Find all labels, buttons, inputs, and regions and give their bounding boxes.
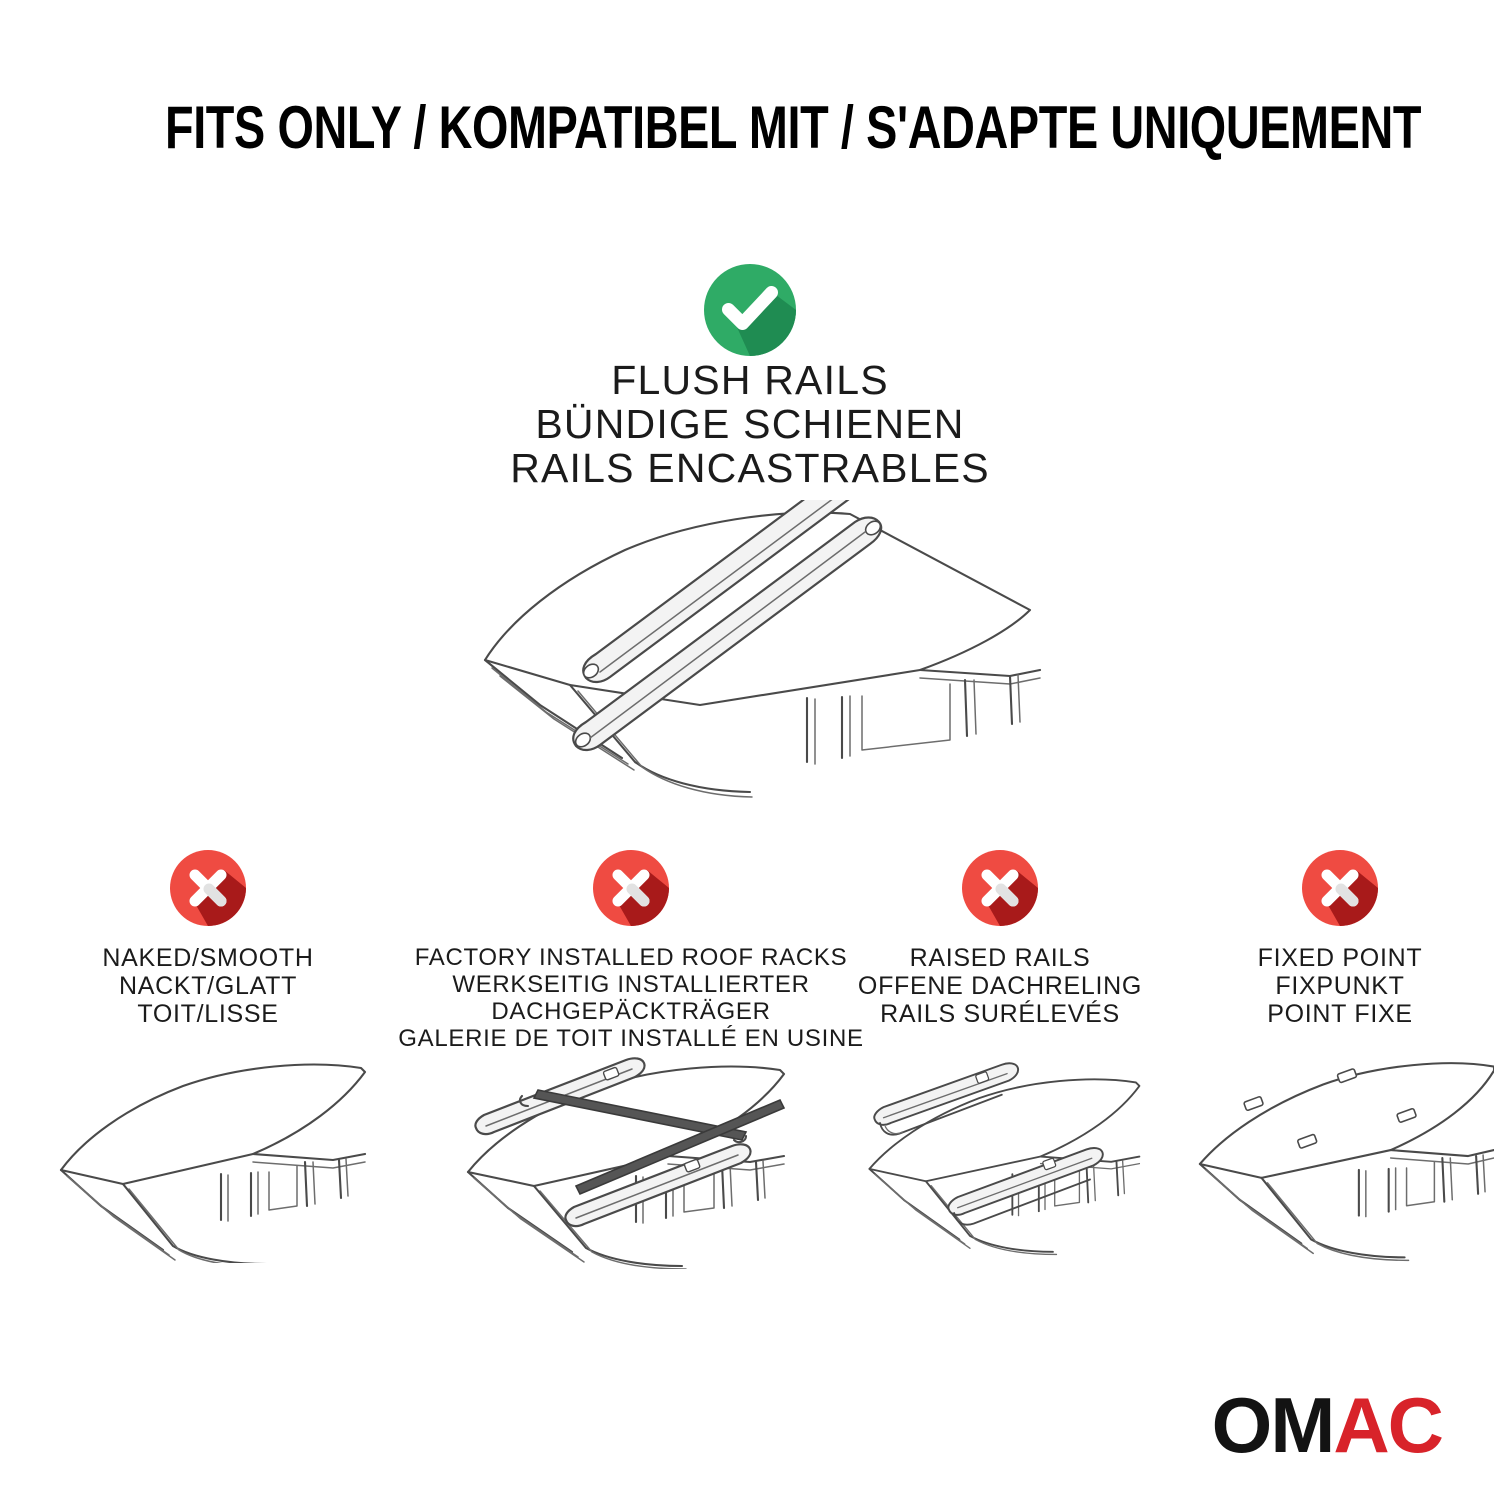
car-roof-naked-illustration [38,1058,378,1273]
column-label: FIXED POINT FIXPUNKT POINT FIXE [1186,944,1494,1028]
label-line-de: OFFENE DACHRELING [850,972,1150,1000]
label-line-en: FACTORY INSTALLED ROOF RACKS [398,944,864,971]
incompatible-grid: NAKED/SMOOTH NACKT/GLATT TOIT/LISSE [0,848,1500,1308]
label-line-en: NAKED/SMOOTH [38,944,378,972]
check-circle-icon [702,262,798,358]
page-title: FITS ONLY / KOMPATIBEL MIT / S'ADAPTE UN… [165,98,1335,158]
label-line-fr: POINT FIXE [1186,1000,1494,1028]
x-circle-icon [1300,848,1380,928]
car-roof-fixed-point-illustration [1186,1058,1494,1273]
x-circle-icon [591,848,671,928]
label-line-fr: RAILS SURÉLEVÉS [850,1000,1150,1028]
car-roof-flush-rails-illustration [450,500,1050,800]
label-line-fr: TOIT/LISSE [38,1000,378,1028]
compatible-line-en: FLUSH RAILS [0,358,1500,402]
car-roof-raised-rails-illustration [850,1058,1150,1273]
label-line-en: FIXED POINT [1186,944,1494,972]
infographic-page: FITS ONLY / KOMPATIBEL MIT / S'ADAPTE UN… [0,0,1500,1500]
x-circle-icon [168,848,248,928]
logo-text-red: AC [1333,1381,1442,1469]
car-roof-factory-racks-illustration [398,1054,864,1269]
omac-logo: OMAC [1212,1386,1442,1464]
label-line-de-2: DACHGEPÄCKTRÄGER [398,998,864,1025]
compatible-line-fr: RAILS ENCASTRABLES [0,446,1500,490]
compatible-heading: FLUSH RAILS BÜNDIGE SCHIENEN RAILS ENCAS… [0,358,1500,490]
column-label: RAISED RAILS OFFENE DACHRELING RAILS SUR… [850,944,1150,1028]
logo-text-dark: OM [1212,1381,1334,1469]
column-label: NAKED/SMOOTH NACKT/GLATT TOIT/LISSE [38,944,378,1028]
label-line-fr: GALERIE DE TOIT INSTALLÉ EN USINE [398,1025,864,1052]
label-line-de: FIXPUNKT [1186,972,1494,1000]
incompatible-column-naked-smooth: NAKED/SMOOTH NACKT/GLATT TOIT/LISSE [38,848,378,1273]
incompatible-column-fixed-point: FIXED POINT FIXPUNKT POINT FIXE [1186,848,1494,1273]
x-circle-icon [960,848,1040,928]
label-line-de: NACKT/GLATT [38,972,378,1000]
incompatible-column-factory-racks: FACTORY INSTALLED ROOF RACKS WERKSEITIG … [398,848,864,1269]
incompatible-column-raised-rails: RAISED RAILS OFFENE DACHRELING RAILS SUR… [850,848,1150,1273]
column-label: FACTORY INSTALLED ROOF RACKS WERKSEITIG … [398,944,864,1052]
label-line-de-1: WERKSEITIG INSTALLIERTER [398,971,864,998]
label-line-en: RAISED RAILS [850,944,1150,972]
compatible-line-de: BÜNDIGE SCHIENEN [0,402,1500,446]
